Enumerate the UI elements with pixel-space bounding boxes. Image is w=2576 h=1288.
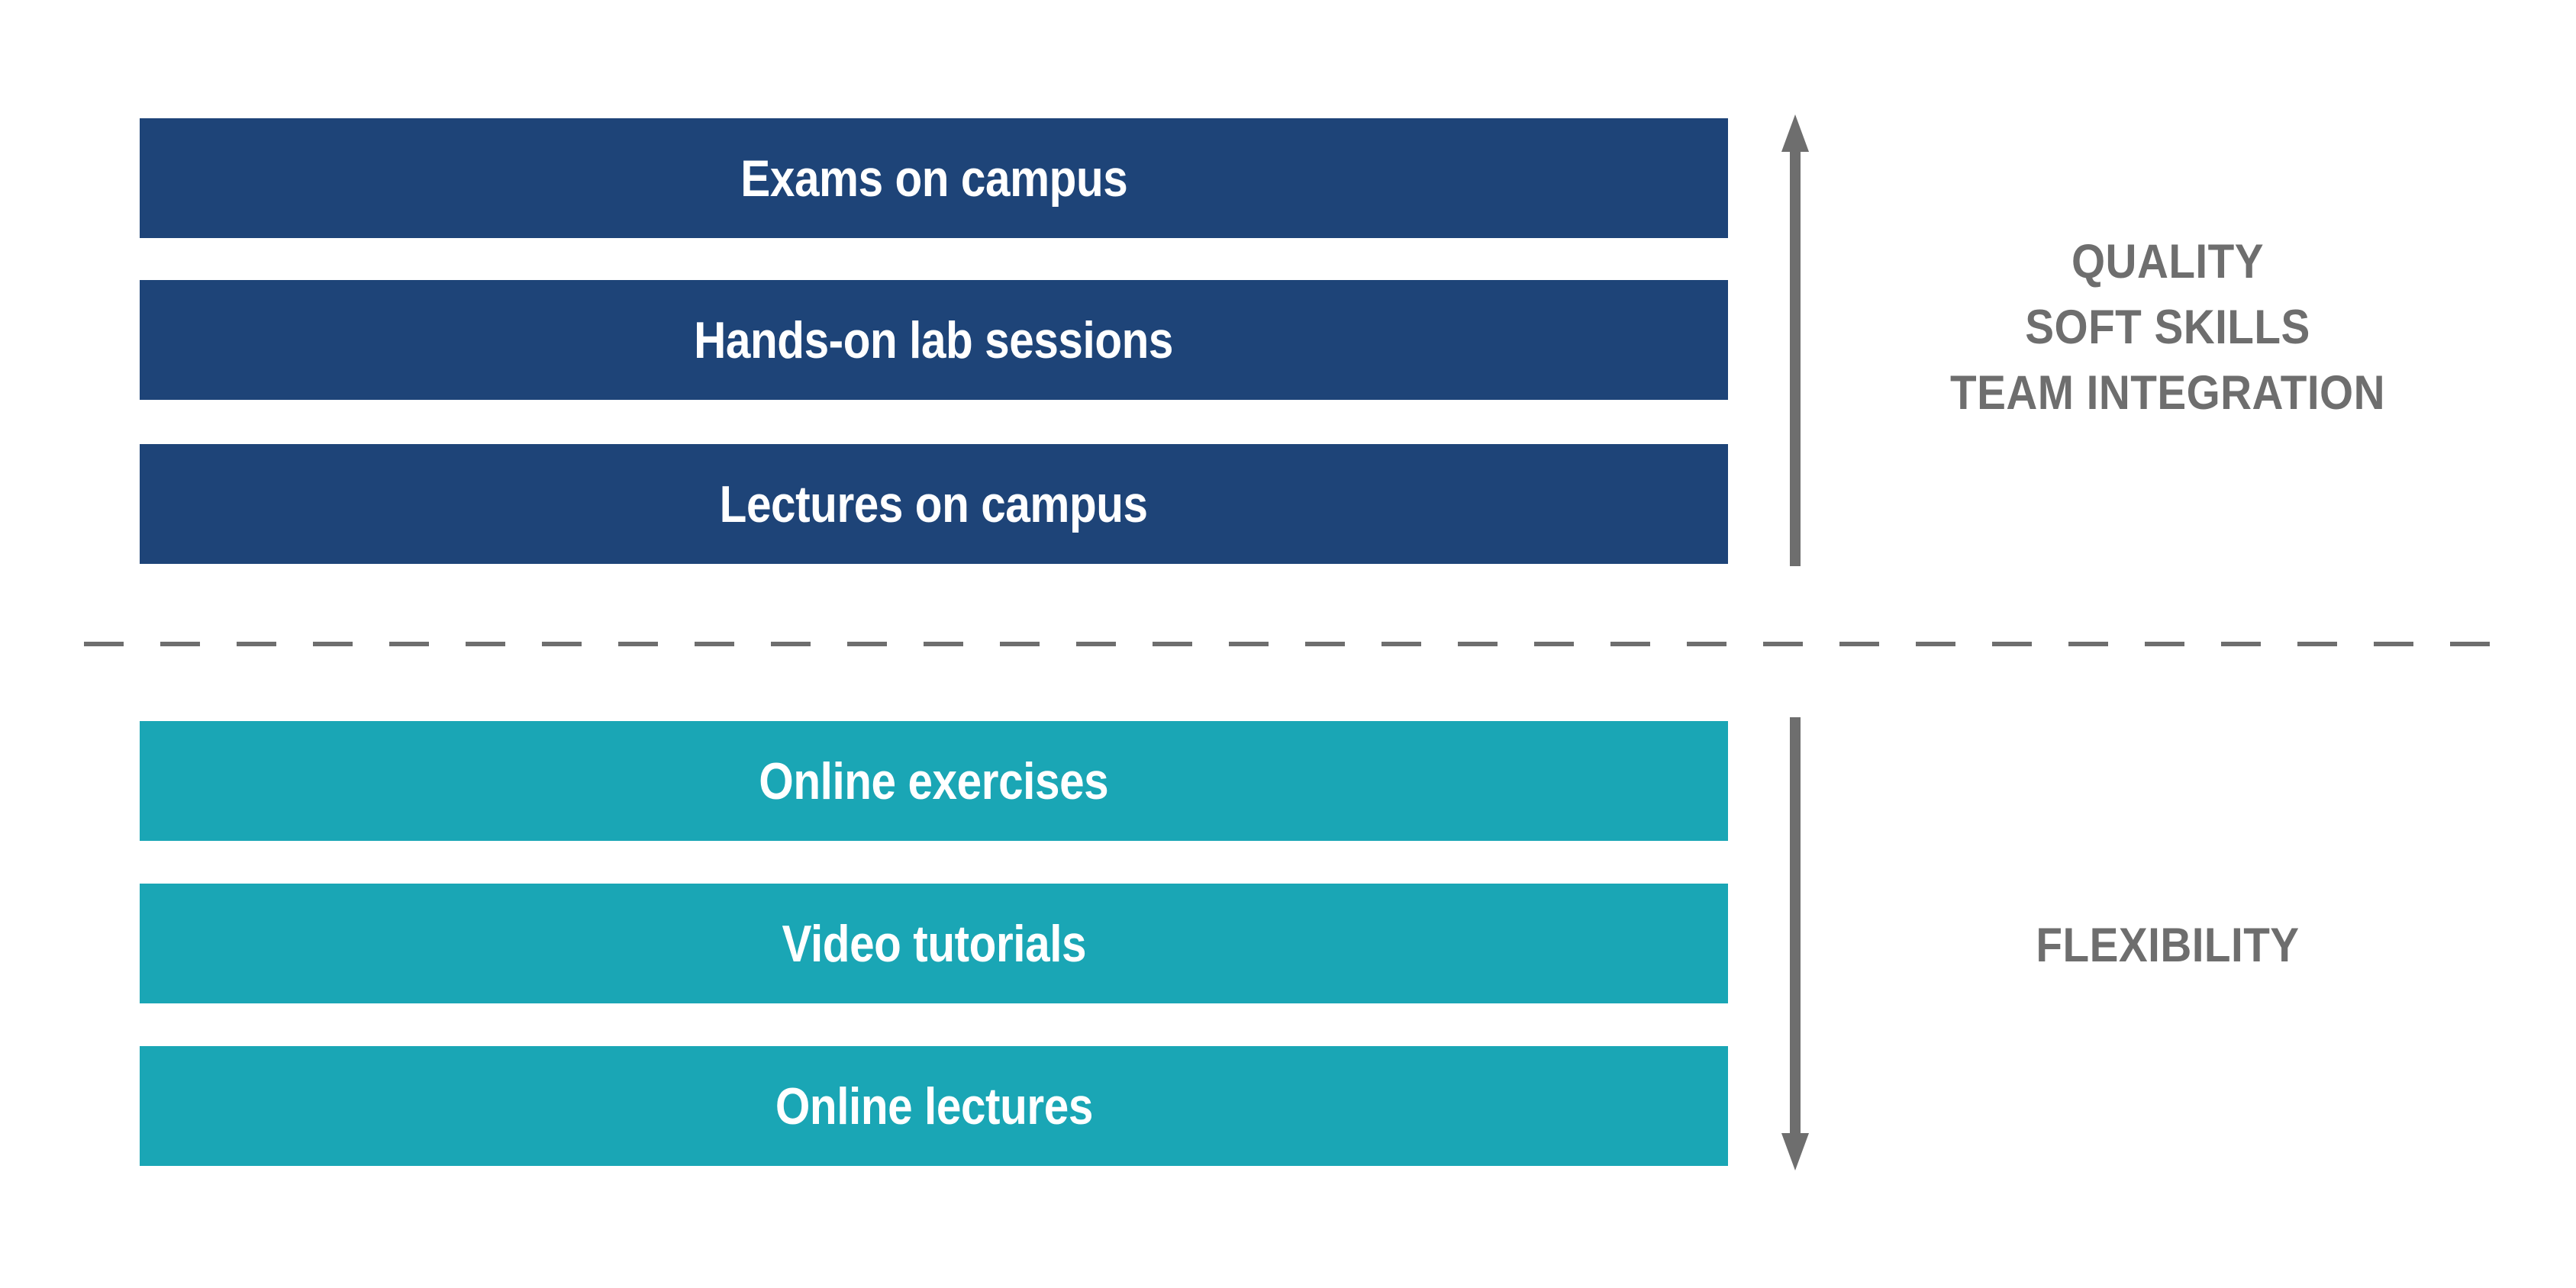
caption-line-flexibility: FLEXIBILITY (1893, 913, 2442, 978)
bar-lectures-on-campus: Lectures on campus (140, 444, 1728, 564)
bar-video-tutorials: Video tutorials (140, 884, 1728, 1003)
diagram-canvas: Exams on campus Hands-on lab sessions Le… (0, 0, 2576, 1288)
bar-online-lectures: Online lectures (140, 1046, 1728, 1166)
arrow-up-icon (1769, 114, 1823, 566)
caption-line-team-integration: TEAM INTEGRATION (1893, 360, 2442, 426)
bar-label: Lectures on campus (720, 478, 1148, 530)
caption-on-campus: QUALITY SOFT SKILLS TEAM INTEGRATION (1893, 229, 2442, 426)
arrow-down-icon (1769, 717, 1823, 1170)
bar-label: Hands-on lab sessions (695, 314, 1174, 366)
bar-label: Online exercises (759, 755, 1108, 807)
dashed-divider (84, 642, 2493, 646)
caption-line-soft-skills: SOFT SKILLS (1893, 295, 2442, 360)
bar-label: Online lectures (775, 1080, 1092, 1132)
bar-exams-on-campus: Exams on campus (140, 118, 1728, 238)
caption-online: FLEXIBILITY (1893, 913, 2442, 978)
bar-label: Video tutorials (782, 918, 1086, 970)
bar-online-exercises: Online exercises (140, 721, 1728, 841)
bar-label: Exams on campus (740, 153, 1127, 204)
bar-hands-on-lab-sessions: Hands-on lab sessions (140, 280, 1728, 400)
caption-line-quality: QUALITY (1893, 229, 2442, 295)
